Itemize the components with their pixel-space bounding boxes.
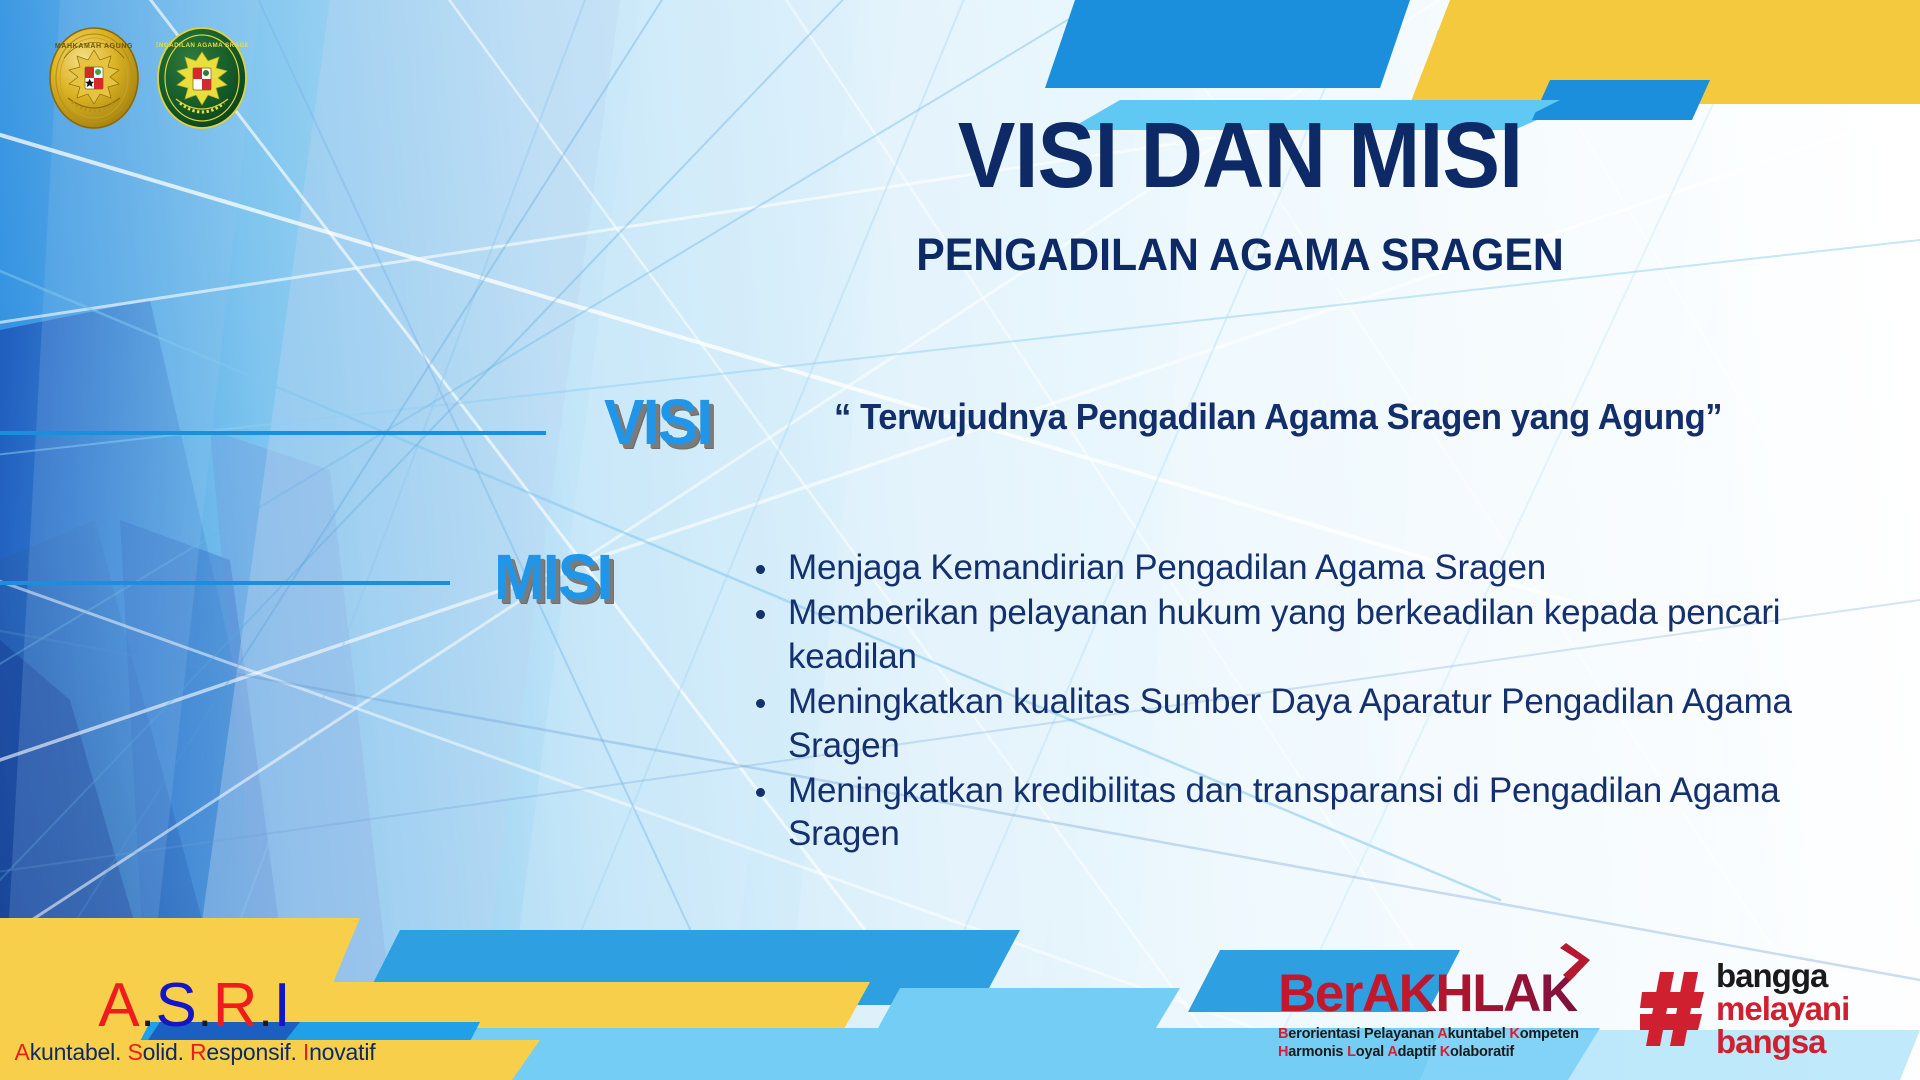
page-title: VISI DAN MISI bbox=[701, 108, 1780, 203]
svg-text:MAHKAMAH AGUNG: MAHKAMAH AGUNG bbox=[55, 43, 133, 50]
asri-tagline-part: A bbox=[15, 1039, 30, 1065]
bangga-line2: melayani bbox=[1716, 992, 1849, 1025]
berakhlak-sub-part: oyal bbox=[1356, 1044, 1388, 1060]
bangga-melayani-bangsa-logo: bangga melayani bangsa bbox=[1640, 959, 1849, 1058]
misi-label: MISI bbox=[494, 540, 611, 614]
asri-tagline-part: olid. bbox=[143, 1039, 190, 1065]
berakhlak-sub-part: A bbox=[1437, 1026, 1447, 1042]
berakhlak-subtitle-line1: Berorientasi Pelayanan Akuntabel Kompete… bbox=[1278, 1025, 1578, 1044]
berakhlak-sub-part: K bbox=[1509, 1026, 1519, 1042]
bangga-line1: bangga bbox=[1716, 959, 1849, 992]
misi-list: Menjaga Kemandirian Pengadilan Agama Sra… bbox=[748, 546, 1828, 858]
asri-tagline-part: esponsif. bbox=[206, 1039, 302, 1065]
berakhlak-sub-part: K bbox=[1440, 1044, 1450, 1060]
asri-letter: R bbox=[213, 971, 259, 1040]
chevron-right-icon bbox=[1560, 941, 1600, 983]
slide-canvas: MAHKAMAH AGUNG PENGADILAN AGAMA SRAGEN bbox=[0, 0, 1920, 1080]
berakhlak-sub-part: daptif bbox=[1398, 1044, 1440, 1060]
asri-tagline: Akuntabel. Solid. Responsif. Inovatif bbox=[15, 1039, 376, 1066]
misi-item: Meningkatkan kualitas Sumber Daya Aparat… bbox=[748, 680, 1828, 767]
berakhlak-subtitle-line2: Harmonis Loyal Adaptif Kolaboratif bbox=[1278, 1043, 1578, 1062]
svg-text:PENGADILAN AGAMA SRAGEN: PENGADILAN AGAMA SRAGEN bbox=[156, 42, 248, 49]
berakhlak-sub-part: L bbox=[1347, 1044, 1356, 1060]
asri-tagline-part: S bbox=[127, 1039, 142, 1065]
berakhlak-sub-part: H bbox=[1278, 1044, 1288, 1060]
title-block: VISI DAN MISI PENGADILAN AGAMA SRAGEN bbox=[660, 108, 1820, 281]
berakhlak-sub-part: A bbox=[1387, 1044, 1397, 1060]
asri-tagline-part: novatif bbox=[309, 1039, 375, 1065]
asri-letter: . bbox=[259, 981, 274, 1037]
berakhlak-sub-part: armonis bbox=[1288, 1044, 1347, 1060]
bangga-wordmark: bangga melayani bangsa bbox=[1716, 959, 1849, 1058]
berakhlak-wordmark: BerAKHLAK bbox=[1278, 967, 1578, 1020]
divider-rule-misi bbox=[0, 581, 450, 585]
visi-label: VISI bbox=[604, 385, 711, 459]
asri-letter: I bbox=[273, 971, 291, 1040]
asri-tagline-part: kuntabel. bbox=[30, 1039, 128, 1065]
berakhlak-sub-part: ompeten bbox=[1520, 1026, 1579, 1042]
mahkamah-agung-emblem: MAHKAMAH AGUNG bbox=[48, 26, 140, 130]
emblem-group: MAHKAMAH AGUNG PENGADILAN AGAMA SRAGEN bbox=[48, 26, 248, 130]
berakhlak-logo: BerAKHLAK Berorientasi Pelayanan Akuntab… bbox=[1278, 967, 1578, 1062]
asri-letter: A bbox=[98, 971, 140, 1040]
berakhlak-sub-part: kuntabel bbox=[1448, 1026, 1510, 1042]
asri-logo: A.S.R.I Akuntabel. Solid. Responsif. Ino… bbox=[0, 965, 390, 1080]
asri-letter: . bbox=[141, 981, 156, 1037]
misi-item: Meningkatkan kredibilitas dan transparan… bbox=[748, 769, 1828, 856]
berakhlak-sub-part: erorientasi Pelayanan bbox=[1288, 1026, 1437, 1042]
asri-acronym: A.S.R.I bbox=[98, 975, 291, 1037]
berakhlak-sub-part: B bbox=[1278, 1026, 1288, 1042]
misi-item: Menjaga Kemandirian Pengadilan Agama Sra… bbox=[748, 546, 1828, 589]
visi-quote: “ Terwujudnya Pengadilan Agama Sragen ya… bbox=[834, 396, 1722, 438]
berakhlak-sub-part: olaboratif bbox=[1450, 1044, 1514, 1060]
asri-tagline-part: R bbox=[190, 1039, 206, 1065]
bangga-line3: bangsa bbox=[1716, 1025, 1849, 1058]
misi-item: Memberikan pelayanan hukum yang berkeadi… bbox=[748, 591, 1828, 678]
pengadilan-agama-sragen-emblem: PENGADILAN AGAMA SRAGEN bbox=[156, 26, 248, 130]
asri-letter: . bbox=[198, 981, 213, 1037]
asri-letter: S bbox=[156, 971, 198, 1040]
divider-rule-visi bbox=[0, 431, 546, 435]
hashtag-icon bbox=[1640, 970, 1706, 1048]
page-subtitle: PENGADILAN AGAMA SRAGEN bbox=[689, 229, 1791, 281]
